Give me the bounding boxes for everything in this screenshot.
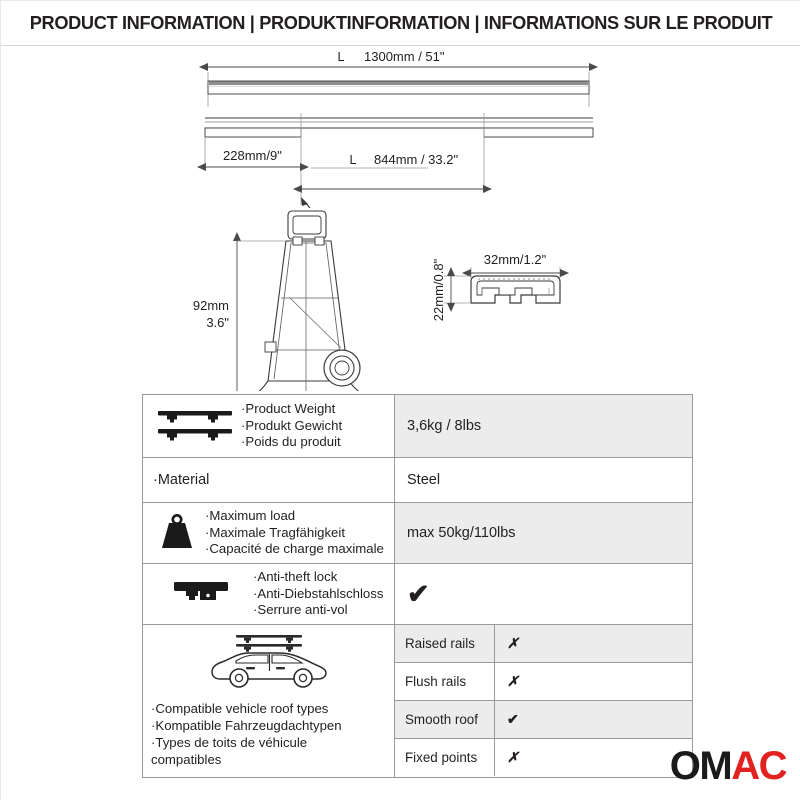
roof-type-name: Flush rails xyxy=(395,663,495,700)
roof-label-line: ·Types de toits de véhicule xyxy=(151,734,342,751)
span-dimension xyxy=(301,168,483,205)
spec-label-text: ·Anti-theft lock ·Anti-Diebstahlschloss … xyxy=(253,569,383,620)
roof-types-label-text: ·Compatible vehicle roof types ·Kompatib… xyxy=(151,700,342,769)
roof-type-name: Fixed points xyxy=(395,739,495,776)
table-row: ·Product Weight ·Produkt Gewicht ·Poids … xyxy=(143,395,692,458)
roof-types-label-cell: ·Compatible vehicle roof types ·Kompatib… xyxy=(143,625,395,777)
spec-label-cell: ·Material xyxy=(143,458,395,502)
overall-length-prefix: L xyxy=(338,50,345,64)
spec-label-cell: ·Product Weight ·Produkt Gewicht ·Poids … xyxy=(143,395,395,457)
foot-height-value-line1: 92mm xyxy=(193,298,229,313)
spec-label-line: ·Anti-theft lock xyxy=(253,569,383,586)
roof-label-line: compatibles xyxy=(151,751,342,768)
spec-label-line: ·Anti-Diebstahlschloss xyxy=(253,586,383,603)
profile-height-dimension xyxy=(444,276,471,303)
spec-label-cell: ·Maximum load ·Maximale Tragfähigkeit ·C… xyxy=(143,503,395,563)
spec-label-cell: ·Anti-theft lock ·Anti-Diebstahlschloss … xyxy=(143,564,395,624)
table-row: ·Material Steel xyxy=(143,458,692,503)
spec-label-text: ·Maximum load ·Maximale Tragfähigkeit ·C… xyxy=(205,508,384,559)
roof-type-mark: ✔ xyxy=(495,701,692,738)
spec-label-text: ·Product Weight ·Produkt Gewicht ·Poids … xyxy=(241,401,342,452)
spec-value-maximum-load: max 50kg/110lbs xyxy=(395,503,692,563)
overall-length-value: 1300mm / 51" xyxy=(364,49,445,64)
spec-value-product-weight: 3,6kg / 8lbs xyxy=(395,395,692,457)
roof-type-row: Smooth roof ✔ xyxy=(395,701,692,739)
page-header: PRODUCT INFORMATION | PRODUKTINFORMATION… xyxy=(1,1,800,45)
table-row: ·Maximum load ·Maximale Tragfähigkeit ·C… xyxy=(143,503,692,564)
foot-detail-drawing xyxy=(252,197,366,391)
crossbars-icon xyxy=(149,406,241,446)
crossbar-top-view xyxy=(208,81,589,94)
roof-types-list: Raised rails ✗ Flush rails ✗ Smooth roof xyxy=(395,625,692,777)
profile-height-value: 22mm/0.8" xyxy=(431,258,446,321)
span-prefix: L xyxy=(350,153,357,167)
logo-text-ac: AC xyxy=(731,746,786,786)
span-value: 844mm / 33.2" xyxy=(374,152,458,167)
roof-type-row: Raised rails ✗ xyxy=(395,625,692,663)
roof-label-line: ·Compatible vehicle roof types xyxy=(151,700,342,717)
page-title: PRODUCT INFORMATION | PRODUKTINFORMATION… xyxy=(30,13,772,34)
spec-value-material: Steel xyxy=(395,458,692,502)
spec-label-line: ·Maximum load xyxy=(205,508,384,525)
roof-label-line: ·Kompatible Fahrzeugdachtypen xyxy=(151,717,342,734)
profile-width-value: 32mm/1.2" xyxy=(484,252,547,267)
spec-label-line: ·Product Weight xyxy=(241,401,342,418)
technical-drawing: L 1300mm / 51" 228mm/9" L 844mm / 33.2" … xyxy=(1,45,800,391)
roof-type-mark: ✗ xyxy=(495,625,692,662)
spec-label-line: ·Capacité de charge maximale xyxy=(205,541,384,558)
roof-type-name: Raised rails xyxy=(395,625,495,662)
spec-label-line: ·Material xyxy=(153,471,209,490)
spec-label-text: ·Material xyxy=(149,471,209,490)
spec-label-line: ·Maximale Tragfähigkeit xyxy=(205,525,384,542)
table-row: ·Anti-theft lock ·Anti-Diebstahlschloss … xyxy=(143,564,692,625)
weight-icon xyxy=(149,514,205,552)
spec-label-line: ·Serrure anti-vol xyxy=(253,602,383,619)
table-row-roof-types: ·Compatible vehicle roof types ·Kompatib… xyxy=(143,625,692,777)
logo-text-om: OM xyxy=(670,746,731,786)
spec-label-line: ·Produkt Gewicht xyxy=(241,418,342,435)
roof-type-name: Smooth roof xyxy=(395,701,495,738)
roof-type-row: Fixed points ✗ xyxy=(395,739,692,776)
specification-table: ·Product Weight ·Produkt Gewicht ·Poids … xyxy=(142,394,693,778)
roof-type-row: Flush rails ✗ xyxy=(395,663,692,701)
foot-offset-value: 228mm/9" xyxy=(223,148,282,163)
omac-logo: OMAC xyxy=(670,746,786,786)
product-information-sheet: PRODUCT INFORMATION | PRODUKTINFORMATION… xyxy=(0,0,800,800)
profile-cross-section xyxy=(471,276,560,303)
spec-label-line: ·Poids du produit xyxy=(241,434,342,451)
lock-icon xyxy=(149,579,253,609)
check-mark: ✔ xyxy=(407,581,430,608)
roof-type-mark: ✗ xyxy=(495,663,692,700)
car-with-rack-icon xyxy=(206,631,334,694)
spec-value-anti-theft-lock: ✔ xyxy=(395,564,692,624)
foot-height-value-line2: 3.6" xyxy=(206,315,229,330)
roof-type-mark: ✗ xyxy=(495,739,692,776)
